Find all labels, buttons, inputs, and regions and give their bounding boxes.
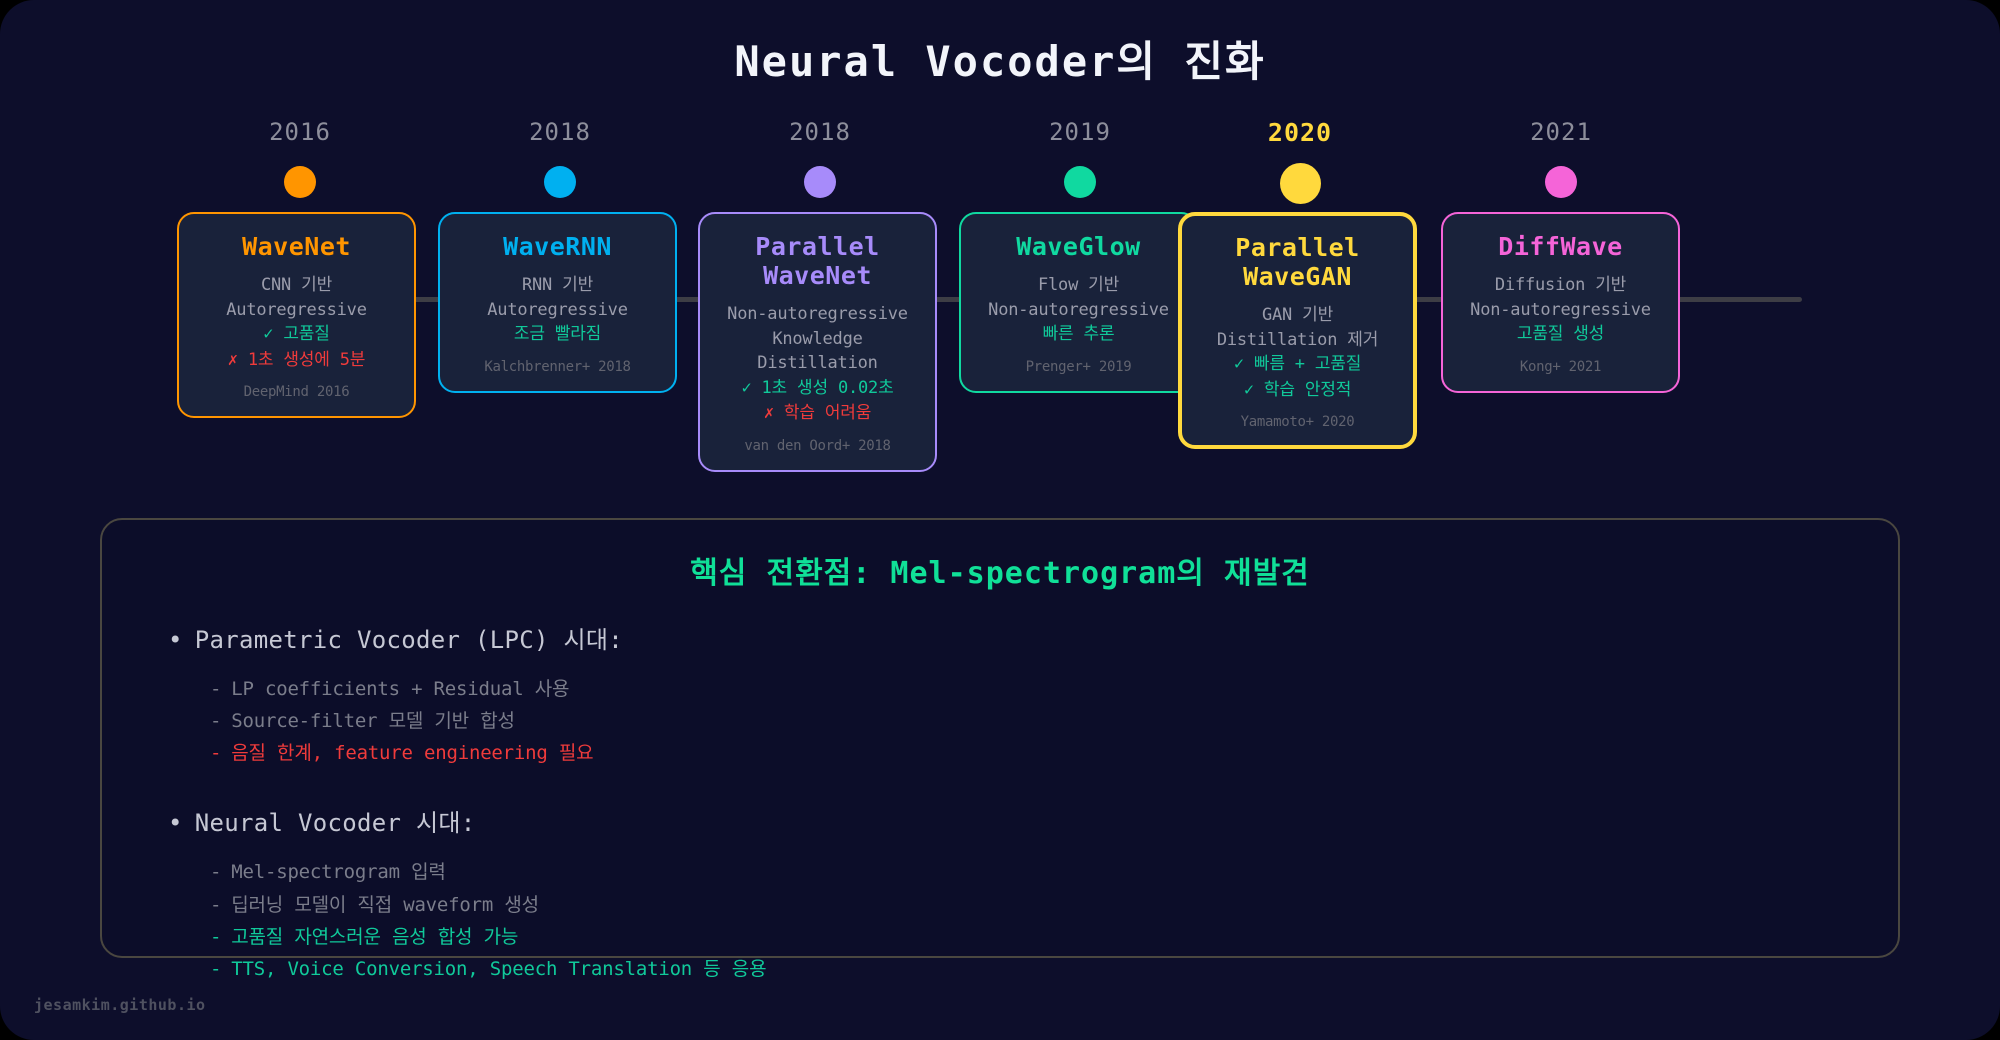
model-card-pro: ✓ 학습 안정적 [1191,378,1404,404]
bullet-icon: • [168,809,183,837]
panel-group: •Neural Vocoder 시대:-Mel-spectrogram 입력-딥… [168,803,1898,985]
model-card-detail: Diffusion 기반 [1453,273,1668,298]
model-card-pro: 빠른 추론 [971,322,1186,348]
timeline-dot-wrapper [720,158,920,206]
panel-sub-item-text: LP coefficients + Residual 사용 [231,678,569,700]
timeline-year-label: 2016 [200,120,400,144]
timeline-node-2018-1[interactable]: 2018 [460,120,660,206]
model-card-citation: DeepMind 2016 [189,384,404,400]
model-card-citation: Prenger+ 2019 [971,359,1186,375]
timeline-year-label: 2021 [1461,120,1661,144]
model-card-list: WaveNetCNN 기반Autoregressive✓ 고품질✗ 1초 생성에… [0,212,2000,452]
panel-sub-item-text: 음질 한계, feature engineering 필요 [231,742,593,764]
model-card-name: WaveRNN [450,232,665,261]
model-card-pro: ✓ 빠름 + 고품질 [1191,352,1404,378]
dash-icon: - [210,710,221,732]
panel-title: 핵심 전환점: Mel-spectrogram의 재발견 [102,548,1898,592]
panel-sub-item-text: Mel-spectrogram 입력 [231,861,445,883]
model-card-name: WaveNet [189,232,404,261]
model-card-detail: Knowledge Distillation [710,327,925,376]
timeline-dot-wrapper [1200,159,1400,207]
timeline-dot-wrapper [200,158,400,206]
panel-sub-item: -고품질 자연스러운 음성 합성 가능 [210,921,1898,953]
timeline-year-label: 2018 [720,120,920,144]
panel-sub-item-text: Source-filter 모델 기반 합성 [231,710,515,732]
model-card-parallel-wavegan[interactable]: Parallel WaveGANGAN 기반Distillation 제거✓ 빠… [1178,212,1417,449]
panel-sub-item: -TTS, Voice Conversion, Speech Translati… [210,953,1898,985]
dash-icon: - [210,861,221,883]
model-card-detail: RNN 기반 [450,273,665,298]
panel-sub-item: -LP coefficients + Residual 사용 [210,673,1898,705]
timeline-year-label: 2018 [460,120,660,144]
model-card-detail: Non-autoregressive [710,302,925,327]
timeline-node-2020-4[interactable]: 2020 [1200,120,1400,207]
timeline-node-2016-0[interactable]: 2016 [200,120,400,206]
footer-site-label: jesamkim.github.io [34,996,206,1014]
panel-sub-item: -Mel-spectrogram 입력 [210,856,1898,888]
panel-sub-item-text: TTS, Voice Conversion, Speech Translatio… [231,958,766,980]
model-card-detail: GAN 기반 [1191,303,1404,328]
timeline-year-label: 2019 [980,120,1180,144]
timeline-dot-wrapper [460,158,660,206]
model-card-detail: Autoregressive [450,298,665,323]
model-card-pro: ✓ 1초 생성 0.02초 [710,376,925,402]
timeline-node-2019-3[interactable]: 2019 [980,120,1180,206]
dash-icon: - [210,678,221,700]
panel-sub-item: -Source-filter 모델 기반 합성 [210,705,1898,737]
model-card-waveglow[interactable]: WaveGlowFlow 기반Non-autoregressive빠른 추론Pr… [959,212,1198,393]
timeline-dot-wrapper [980,158,1180,206]
timeline-dot-icon[interactable] [1545,166,1577,198]
page-title: Neural Vocoder의 진화 [0,28,2000,89]
panel-sub-item: -음질 한계, feature engineering 필요 [210,737,1898,769]
model-card-con: ✗ 1초 생성에 5분 [189,348,404,374]
model-card-parallel-wavenet[interactable]: Parallel WaveNetNon-autoregressiveKnowle… [698,212,937,472]
timeline-dot-icon[interactable] [284,166,316,198]
model-card-pro: ✓ 고품질 [189,322,404,348]
timeline-dot-wrapper [1461,158,1661,206]
model-card-citation: Kalchbrenner+ 2018 [450,359,665,375]
model-card-name: Parallel WaveNet [710,232,925,290]
model-card-detail: CNN 기반 [189,273,404,298]
model-card-name: WaveGlow [971,232,1186,261]
model-card-pro: 조금 빨라짐 [450,322,665,348]
panel-group: •Parametric Vocoder (LPC) 시대:-LP coeffic… [168,620,1898,769]
timeline-node-2018-2[interactable]: 2018 [720,120,920,206]
model-card-wavenet[interactable]: WaveNetCNN 기반Autoregressive✓ 고품질✗ 1초 생성에… [177,212,416,418]
timeline-dot-icon[interactable] [544,166,576,198]
panel-group-heading-text: Parametric Vocoder (LPC) 시대: [195,626,623,654]
model-card-detail: Non-autoregressive [1453,298,1668,323]
model-card-citation: van den Oord+ 2018 [710,438,925,454]
model-card-pro: 고품질 생성 [1453,322,1668,348]
model-card-name: DiffWave [1453,232,1668,261]
model-card-citation: Yamamoto+ 2020 [1191,414,1404,430]
dash-icon: - [210,926,221,948]
model-card-detail: Distillation 제거 [1191,328,1404,353]
panel-group-heading-text: Neural Vocoder 시대: [195,809,476,837]
model-card-detail: Non-autoregressive [971,298,1186,323]
model-card-detail: Flow 기반 [971,273,1186,298]
model-card-con: ✗ 학습 어려움 [710,401,925,427]
timeline: 201620182018201920202021 [0,120,2000,220]
slide-root: Neural Vocoder의 진화 201620182018201920202… [0,0,2000,1040]
timeline-dot-icon[interactable] [1064,166,1096,198]
key-insight-panel: 핵심 전환점: Mel-spectrogram의 재발견 •Parametric… [100,518,1900,958]
dash-icon: - [210,742,221,764]
dash-icon: - [210,958,221,980]
timeline-year-label: 2020 [1200,120,1400,145]
panel-group-heading: •Neural Vocoder 시대: [168,803,1898,838]
model-card-name: Parallel WaveGAN [1191,233,1404,291]
panel-group-heading: •Parametric Vocoder (LPC) 시대: [168,620,1898,655]
timeline-dot-icon[interactable] [804,166,836,198]
dash-icon: - [210,894,221,916]
model-card-detail: Autoregressive [189,298,404,323]
timeline-node-2021-5[interactable]: 2021 [1461,120,1661,206]
timeline-dot-icon[interactable] [1280,163,1321,204]
model-card-wavernn[interactable]: WaveRNNRNN 기반Autoregressive조금 빨라짐Kalchbr… [438,212,677,393]
panel-sub-item-text: 딥러닝 모델이 직접 waveform 생성 [231,894,539,916]
panel-sub-item-text: 고품질 자연스러운 음성 합성 가능 [231,926,518,948]
model-card-citation: Kong+ 2021 [1453,359,1668,375]
bullet-icon: • [168,626,183,654]
model-card-diffwave[interactable]: DiffWaveDiffusion 기반Non-autoregressive고품… [1441,212,1680,393]
panel-sub-item: -딥러닝 모델이 직접 waveform 생성 [210,889,1898,921]
